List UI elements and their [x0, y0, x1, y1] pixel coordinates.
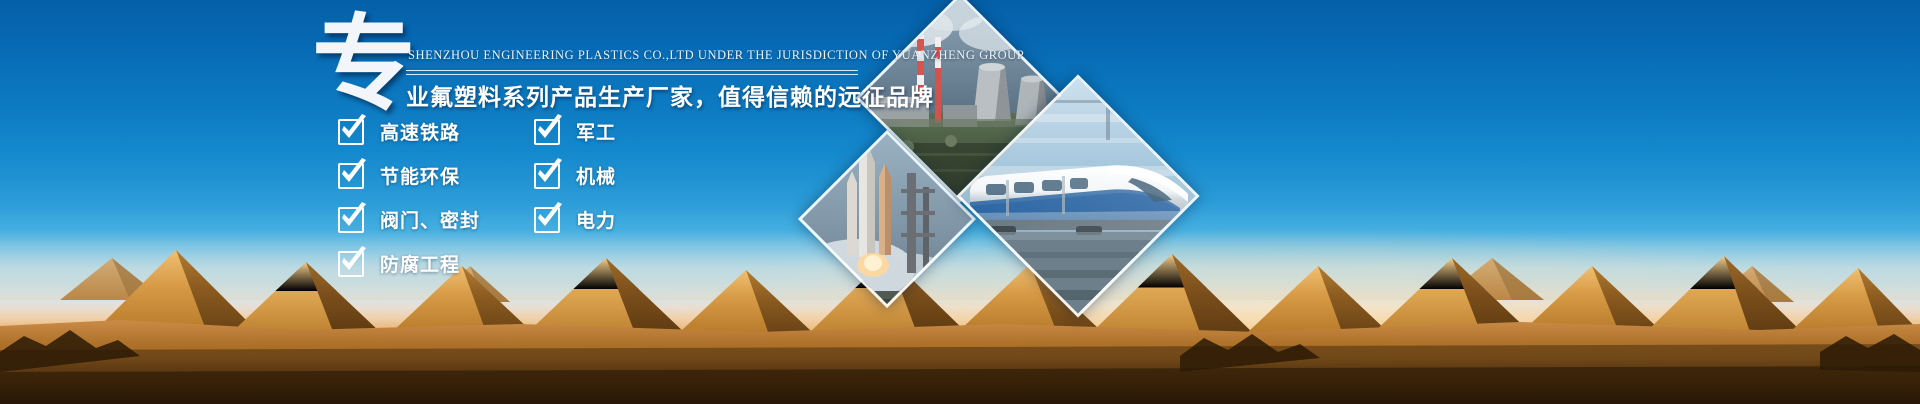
- checklist-item-valve-seal[interactable]: 阀门、密封: [338, 206, 480, 233]
- check-icon: [338, 251, 364, 277]
- check-icon: [534, 163, 560, 189]
- ground-shadow: [0, 358, 1920, 404]
- checklist-item-energy-saving[interactable]: 节能环保: [338, 162, 460, 189]
- promo-banner: 专 SHENZHOU ENGINEERING PLASTICS CO.,LTD …: [0, 0, 1920, 404]
- company-english-name: SHENZHOU ENGINEERING PLASTICS CO.,LTD UN…: [408, 48, 1024, 63]
- check-icon: [338, 163, 364, 189]
- check-icon: [534, 207, 560, 233]
- feature-checklist: 高速铁路 节能环保 阀门、密封 防腐工程 军工: [338, 118, 678, 258]
- checklist-item-power[interactable]: 电力: [534, 206, 616, 233]
- checklist-label: 防腐工程: [380, 250, 460, 277]
- divider-rule-bottom: [406, 74, 858, 75]
- checklist-label: 高速铁路: [380, 118, 460, 145]
- checklist-label: 电力: [576, 206, 616, 233]
- checklist-label: 军工: [576, 118, 616, 145]
- checklist-item-military[interactable]: 军工: [534, 118, 616, 145]
- checklist-item-anticorrosion[interactable]: 防腐工程: [338, 250, 460, 277]
- tagline: 业氟塑料系列产品生产厂家，值得信赖的远征品牌: [406, 78, 934, 112]
- checklist-item-high-speed-rail[interactable]: 高速铁路: [338, 118, 460, 145]
- check-icon: [338, 119, 364, 145]
- checklist-label: 节能环保: [380, 162, 460, 189]
- divider-rule-top: [406, 70, 858, 71]
- divider-rules: [406, 70, 858, 75]
- check-icon: [534, 119, 560, 145]
- checklist-label: 阀门、密封: [380, 206, 480, 233]
- checklist-item-machinery[interactable]: 机械: [534, 162, 616, 189]
- check-icon: [338, 207, 364, 233]
- checklist-label: 机械: [576, 162, 616, 189]
